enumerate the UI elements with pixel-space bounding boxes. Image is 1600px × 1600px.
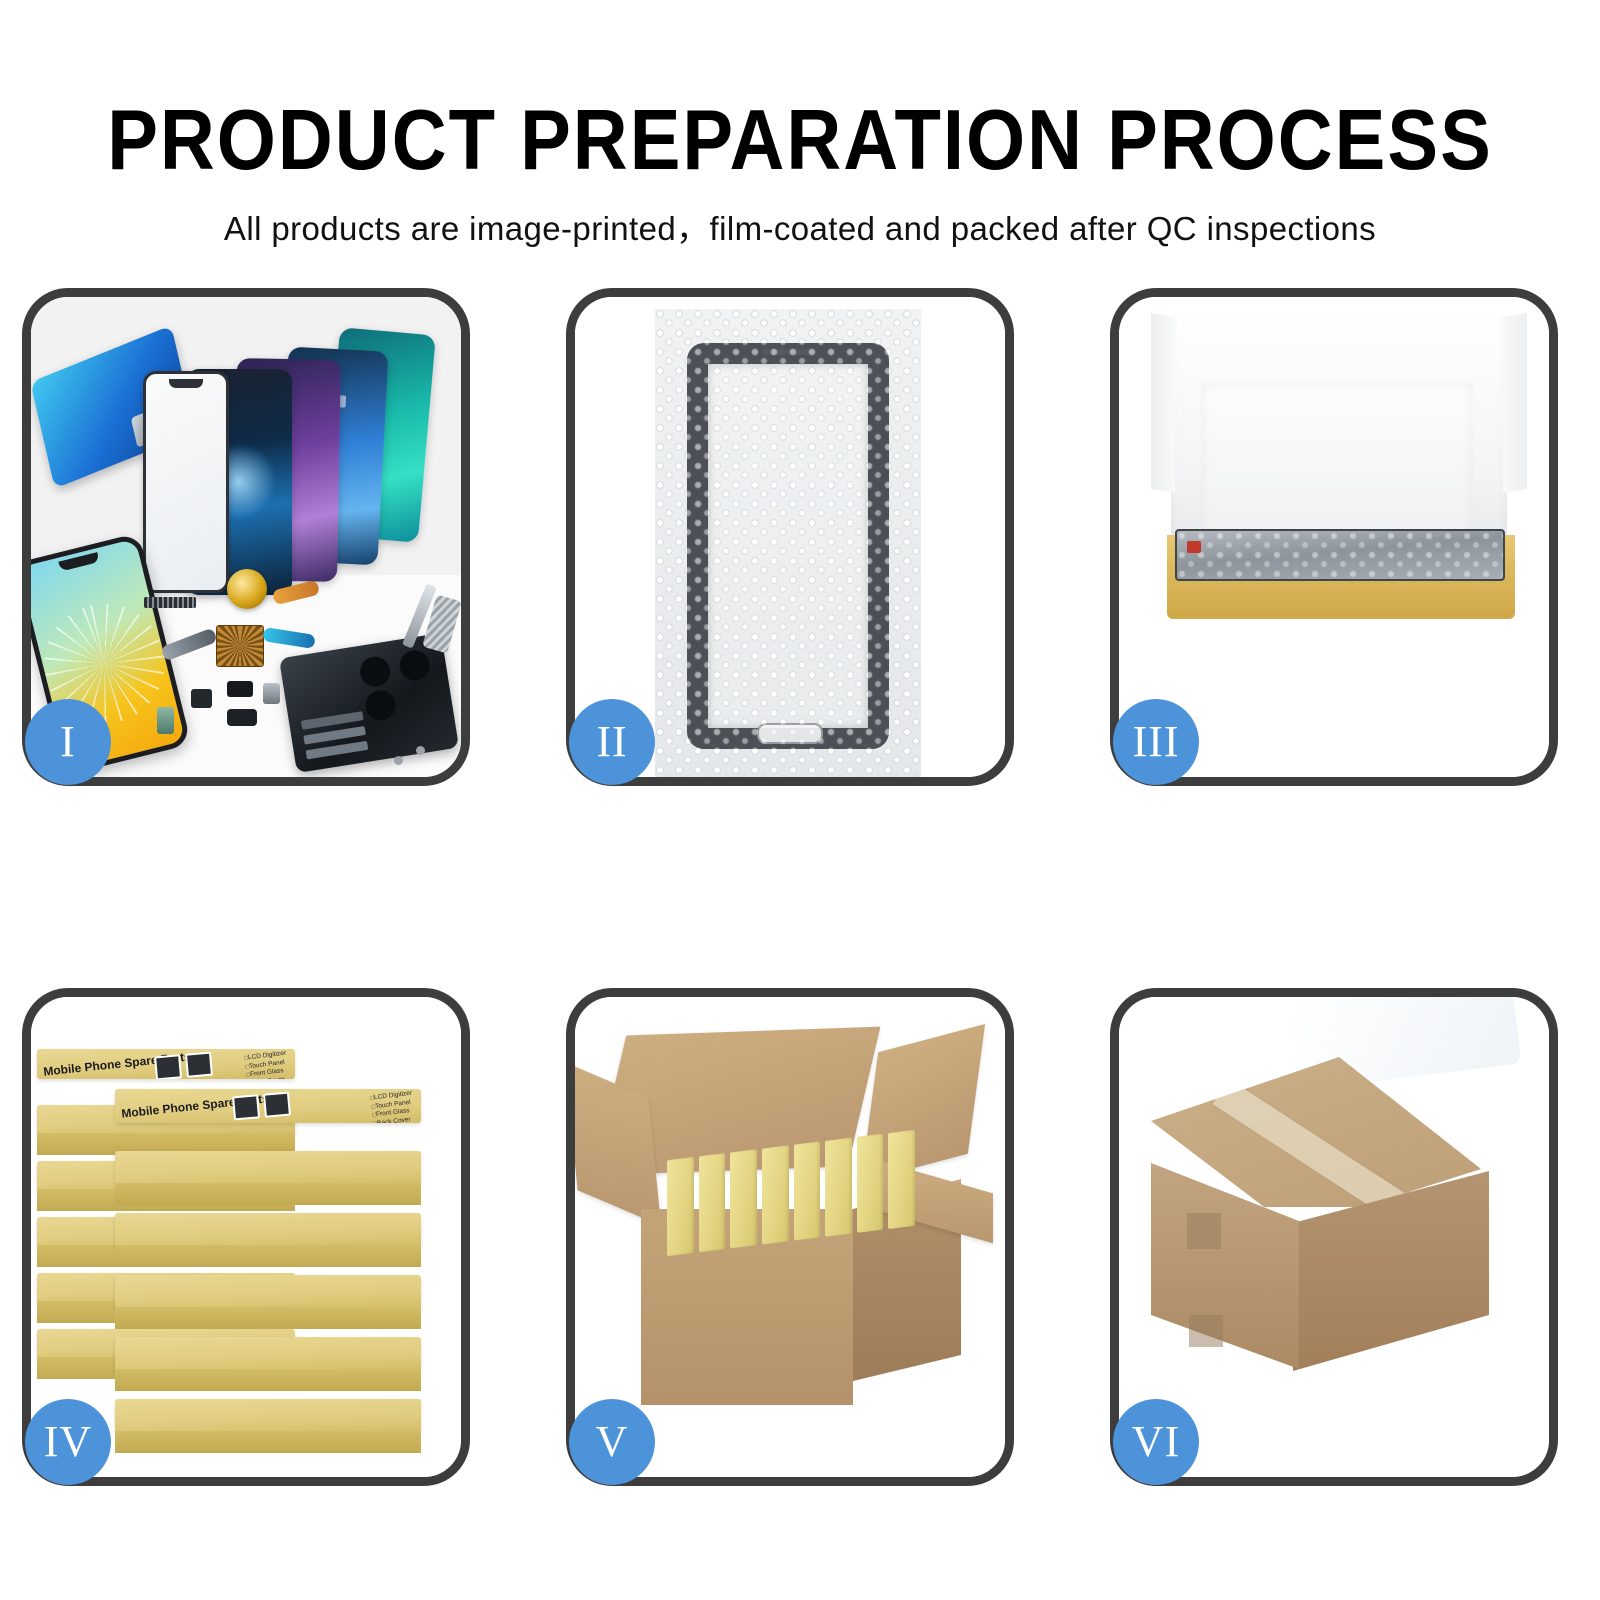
step-1-image [31, 297, 461, 777]
step-6-image [1119, 997, 1549, 1477]
foam-lined-mailer-photo [1119, 297, 1549, 777]
screw-part-1 [394, 756, 403, 765]
process-row-top: I II [0, 288, 1600, 788]
carton-tab-lower [1189, 1315, 1223, 1347]
process-step-card-4[interactable]: Mobile Phone Spare Parts LCD Digitizer T… [22, 988, 470, 1486]
sealed-shipping-carton-photo [1119, 997, 1549, 1477]
step-4-image: Mobile Phone Spare Parts LCD Digitizer T… [31, 997, 461, 1477]
box-checklist: LCD Digitizer Touch Panel Front Glass Ba… [370, 1090, 418, 1123]
step-2-image [575, 297, 1005, 777]
sim-tray-part [157, 707, 174, 734]
infographic-page: PRODUCT PREPARATION PROCESS All products… [0, 0, 1600, 1600]
box-product-thumbnails [154, 1052, 213, 1079]
header: PRODUCT PREPARATION PROCESS All products… [0, 0, 1600, 250]
bubble-wrap-sheet [655, 309, 921, 777]
small-component-4 [227, 709, 257, 726]
box-checklist: LCD Digitizer Touch Panel Front Glass Ba… [244, 1050, 292, 1079]
small-component-3 [191, 689, 212, 708]
step-badge-1: I [25, 699, 111, 785]
step-badge-6: VI [1113, 1399, 1199, 1485]
wrapped-screen-in-tray [1175, 529, 1505, 581]
step-badge-5: V [569, 1399, 655, 1485]
foam-insert [1201, 383, 1473, 537]
phone-digitizer-frame [687, 343, 889, 749]
process-step-card-6[interactable]: VI [1110, 988, 1558, 1486]
retail-box [115, 1337, 421, 1371]
tray-bubble-texture [1177, 531, 1503, 579]
carton-tab-upper [1187, 1213, 1221, 1249]
box-label: Mobile Phone Spare Parts LCD Digitizer T… [115, 1089, 421, 1123]
front-glass-panel [143, 371, 229, 593]
retail-box [115, 1275, 421, 1309]
small-component-2 [263, 683, 280, 704]
process-step-card-1[interactable]: I [22, 288, 470, 786]
retail-box [115, 1151, 421, 1185]
process-step-card-5[interactable]: V [566, 988, 1014, 1486]
screw-part-2 [416, 746, 425, 755]
retail-box: Mobile Phone Spare Parts LCD Digitizer T… [37, 1049, 295, 1079]
ic-chip-part [216, 625, 264, 667]
connector-strip-part [144, 597, 196, 608]
step-badge-3: III [1113, 699, 1199, 785]
step-badge-4: IV [25, 1399, 111, 1485]
retail-box [115, 1399, 421, 1433]
process-row-bottom: Mobile Phone Spare Parts LCD Digitizer T… [0, 988, 1600, 1488]
bubble-wrapped-screen-photo [575, 297, 1005, 777]
step-badge-2: II [569, 699, 655, 785]
process-step-card-3[interactable]: III [1110, 288, 1558, 786]
product-assortment-photo [31, 297, 461, 777]
page-title: PRODUCT PREPARATION PROCESS [0, 0, 1600, 184]
open-shipping-carton-photo [575, 997, 1005, 1477]
box-label: Mobile Phone Spare Parts LCD Digitizer T… [37, 1049, 295, 1079]
retail-box: Mobile Phone Spare Parts LCD Digitizer T… [115, 1089, 421, 1123]
step-5-image [575, 997, 1005, 1477]
sealed-carton [1143, 1057, 1539, 1409]
small-component-1 [227, 681, 253, 697]
charging-coil-icon [227, 569, 267, 609]
stacked-retail-boxes-photo: Mobile Phone Spare Parts LCD Digitizer T… [31, 997, 461, 1477]
step-3-image [1119, 297, 1549, 777]
process-step-card-2[interactable]: II [566, 288, 1014, 786]
retail-box [115, 1213, 421, 1247]
process-step-grid: I II [0, 288, 1600, 1600]
box-product-thumbnails [232, 1092, 291, 1121]
